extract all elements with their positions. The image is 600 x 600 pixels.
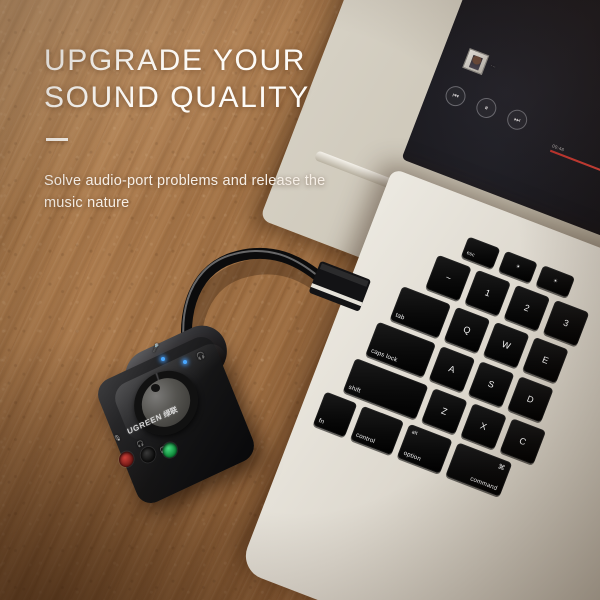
headline-line-2: SOUND QUALITY — [44, 79, 374, 116]
led-indicator-right — [183, 360, 187, 364]
headline-line-1: UPGRADE YOUR — [44, 42, 374, 79]
subtitle: Solve audio-port problems and release th… — [44, 170, 364, 214]
product-marketing-image: Summer Romance DISCO シーズ 心做し — [0, 0, 600, 600]
led-indicator-left — [161, 357, 165, 361]
page-title: UPGRADE YOUR SOUND QUALITY — [44, 42, 374, 116]
title-divider — [46, 138, 68, 141]
usb-sound-card: 🎤 🎧 UGREEN绿联 🎙 🎧 🎧 — [96, 332, 286, 522]
volume-knob-indicator — [151, 384, 160, 392]
